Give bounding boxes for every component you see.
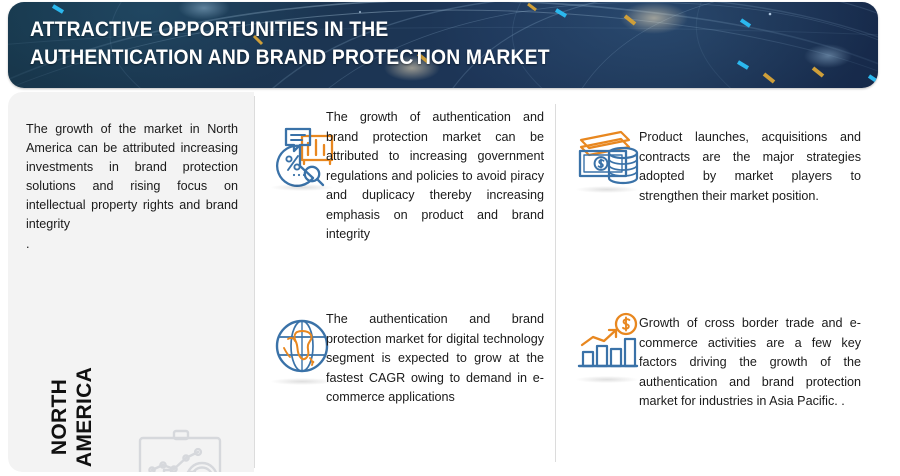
insight-cell-digital-technology-cagr: The authentication and brand protection … (256, 304, 555, 472)
insight-text-asia-pacific-growth: Growth of cross border trade and e-comme… (639, 314, 861, 412)
growth-bar-chart-dollar-icon (571, 308, 643, 380)
insight-cell-market-strategies: Product launches, acquisitions and contr… (557, 100, 878, 310)
icon-shadow (271, 378, 333, 385)
banner-title: ATTRACTIVE OPPORTUNITIES IN THE AUTHENTI… (30, 16, 674, 72)
insight-text-government-regulations: The growth of authentication and brand p… (326, 108, 544, 245)
icon-shadow (576, 376, 638, 383)
content-card: The growth of the market in North Americ… (8, 92, 878, 472)
cash-and-coins-icon-wrap (571, 118, 643, 190)
insight-text-market-strategies: Product launches, acquisitions and contr… (639, 128, 861, 206)
column-divider-left (254, 96, 255, 468)
region-panel: The growth of the market in North Americ… (8, 92, 254, 472)
column-divider-right (555, 104, 556, 462)
insight-text-digital-technology-cagr: The authentication and brand protection … (326, 310, 544, 408)
cash-and-coins-icon (571, 118, 643, 190)
header-banner: ATTRACTIVE OPPORTUNITIES IN THE AUTHENTI… (8, 2, 878, 88)
region-trailing-mark: . (26, 235, 30, 254)
insight-cell-government-regulations: The growth of authentication and brand p… (256, 100, 555, 310)
presentation-board-analytics-icon (130, 422, 240, 472)
icon-shadow (271, 184, 333, 191)
region-label-north-america: NORTH AMERICA (47, 337, 97, 472)
infographic-root: ATTRACTIVE OPPORTUNITIES IN THE AUTHENTI… (0, 0, 900, 476)
icon-shadow (576, 186, 638, 193)
growth-bar-chart-dollar-icon-wrap (571, 308, 643, 380)
insight-cell-asia-pacific-growth: Growth of cross border trade and e-comme… (557, 304, 878, 472)
region-description: The growth of the market in North Americ… (26, 120, 238, 234)
